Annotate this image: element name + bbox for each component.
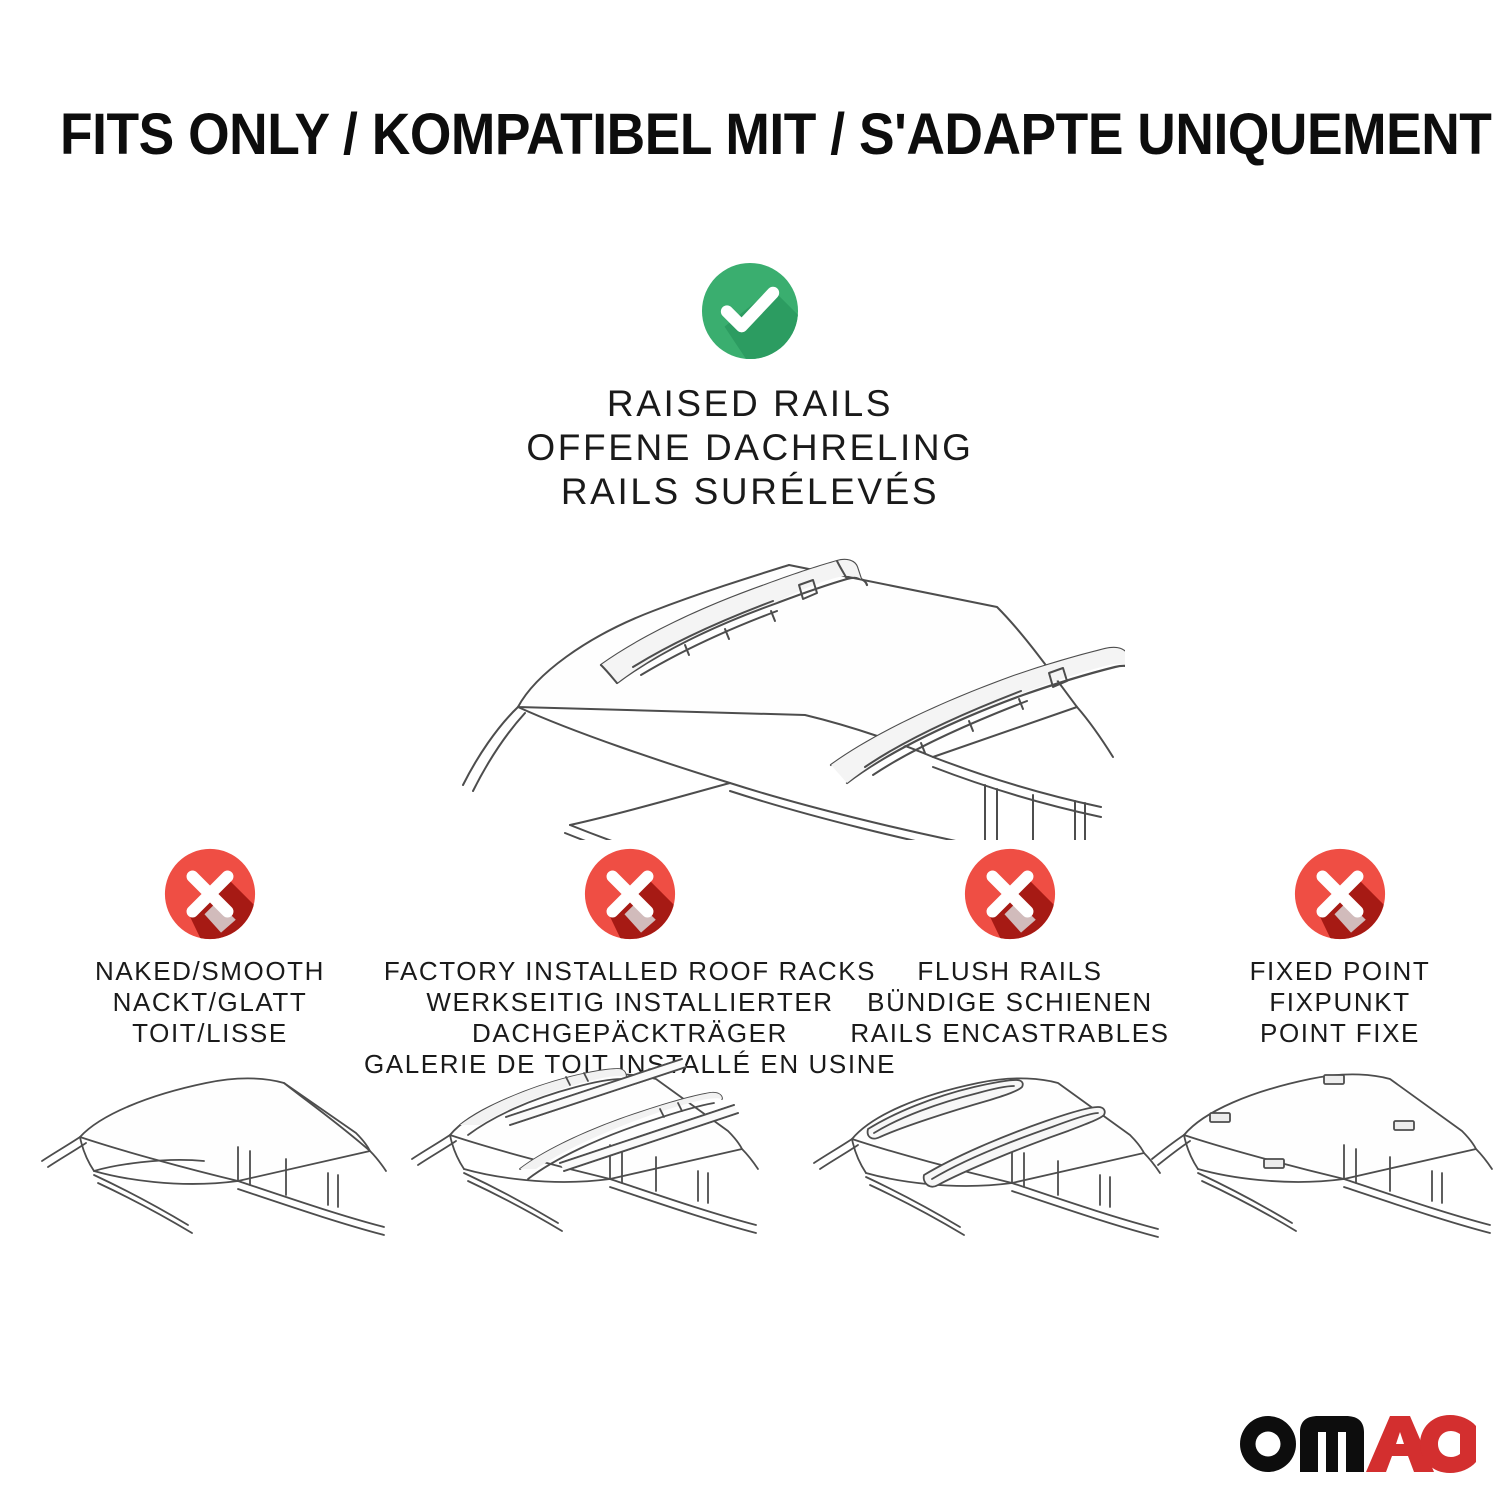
label-line: POINT FIXE (1250, 1018, 1431, 1049)
car-roof-raised-rails-illustration (385, 495, 1125, 840)
x-circle-icon (164, 848, 256, 940)
compatible-label-line-de: OFFENE DACHRELING (0, 426, 1500, 470)
car-roof-fixed-point-illustration (1148, 1055, 1500, 1295)
label-line: RAILS ENCASTRABLES (850, 1018, 1169, 1049)
label-line: TOIT/LISSE (95, 1018, 325, 1049)
car-roof-factory-roof-racks-illustration (398, 1049, 808, 1299)
compatible-section: RAISED RAILS OFFENE DACHRELING RAILS SUR… (0, 262, 1500, 514)
incompatible-label-fixed-point: FIXED POINT FIXPUNKT POINT FIXE (1250, 956, 1431, 1049)
incompatible-item-flush-rails: FLUSH RAILS BÜNDIGE SCHIENEN RAILS ENCAS… (840, 848, 1180, 1049)
label-line: FLUSH RAILS (850, 956, 1169, 987)
x-circle-icon (1294, 848, 1386, 940)
label-line: NACKT/GLATT (95, 987, 325, 1018)
x-circle-icon (584, 848, 676, 940)
compatible-label-line-en: RAISED RAILS (0, 382, 1500, 426)
x-circle-icon (964, 848, 1056, 940)
incompatible-section: NAKED/SMOOTH NACKT/GLATT TOIT/LISSE FACT… (0, 848, 1500, 1080)
incompatible-item-fixed-point: FIXED POINT FIXPUNKT POINT FIXE (1180, 848, 1500, 1049)
label-line: NAKED/SMOOTH (95, 956, 325, 987)
label-line: FIXED POINT (1250, 956, 1431, 987)
incompatible-illustrations (0, 1055, 1500, 1295)
label-line: FACTORY INSTALLED ROOF RACKS (364, 956, 896, 987)
check-circle-icon (701, 262, 799, 360)
incompatible-label-flush-rails: FLUSH RAILS BÜNDIGE SCHIENEN RAILS ENCAS… (850, 956, 1169, 1049)
label-line: FIXPUNKT (1250, 987, 1431, 1018)
incompatible-item-factory-roof-racks: FACTORY INSTALLED ROOF RACKS WERKSEITIG … (420, 848, 840, 1080)
label-line: BÜNDIGE SCHIENEN (850, 987, 1169, 1018)
incompatible-label-naked-smooth: NAKED/SMOOTH NACKT/GLATT TOIT/LISSE (95, 956, 325, 1049)
incompatible-item-naked-smooth: NAKED/SMOOTH NACKT/GLATT TOIT/LISSE (0, 848, 420, 1049)
omac-logo (1238, 1410, 1476, 1476)
car-roof-naked-smooth-illustration (38, 1055, 428, 1295)
page-title: FITS ONLY / KOMPATIBEL MIT / S'ADAPTE UN… (60, 104, 1440, 166)
label-line: WERKSEITIG INSTALLIERTER (364, 987, 896, 1018)
label-line: DACHGEPÄCKTRÄGER (364, 1018, 896, 1049)
